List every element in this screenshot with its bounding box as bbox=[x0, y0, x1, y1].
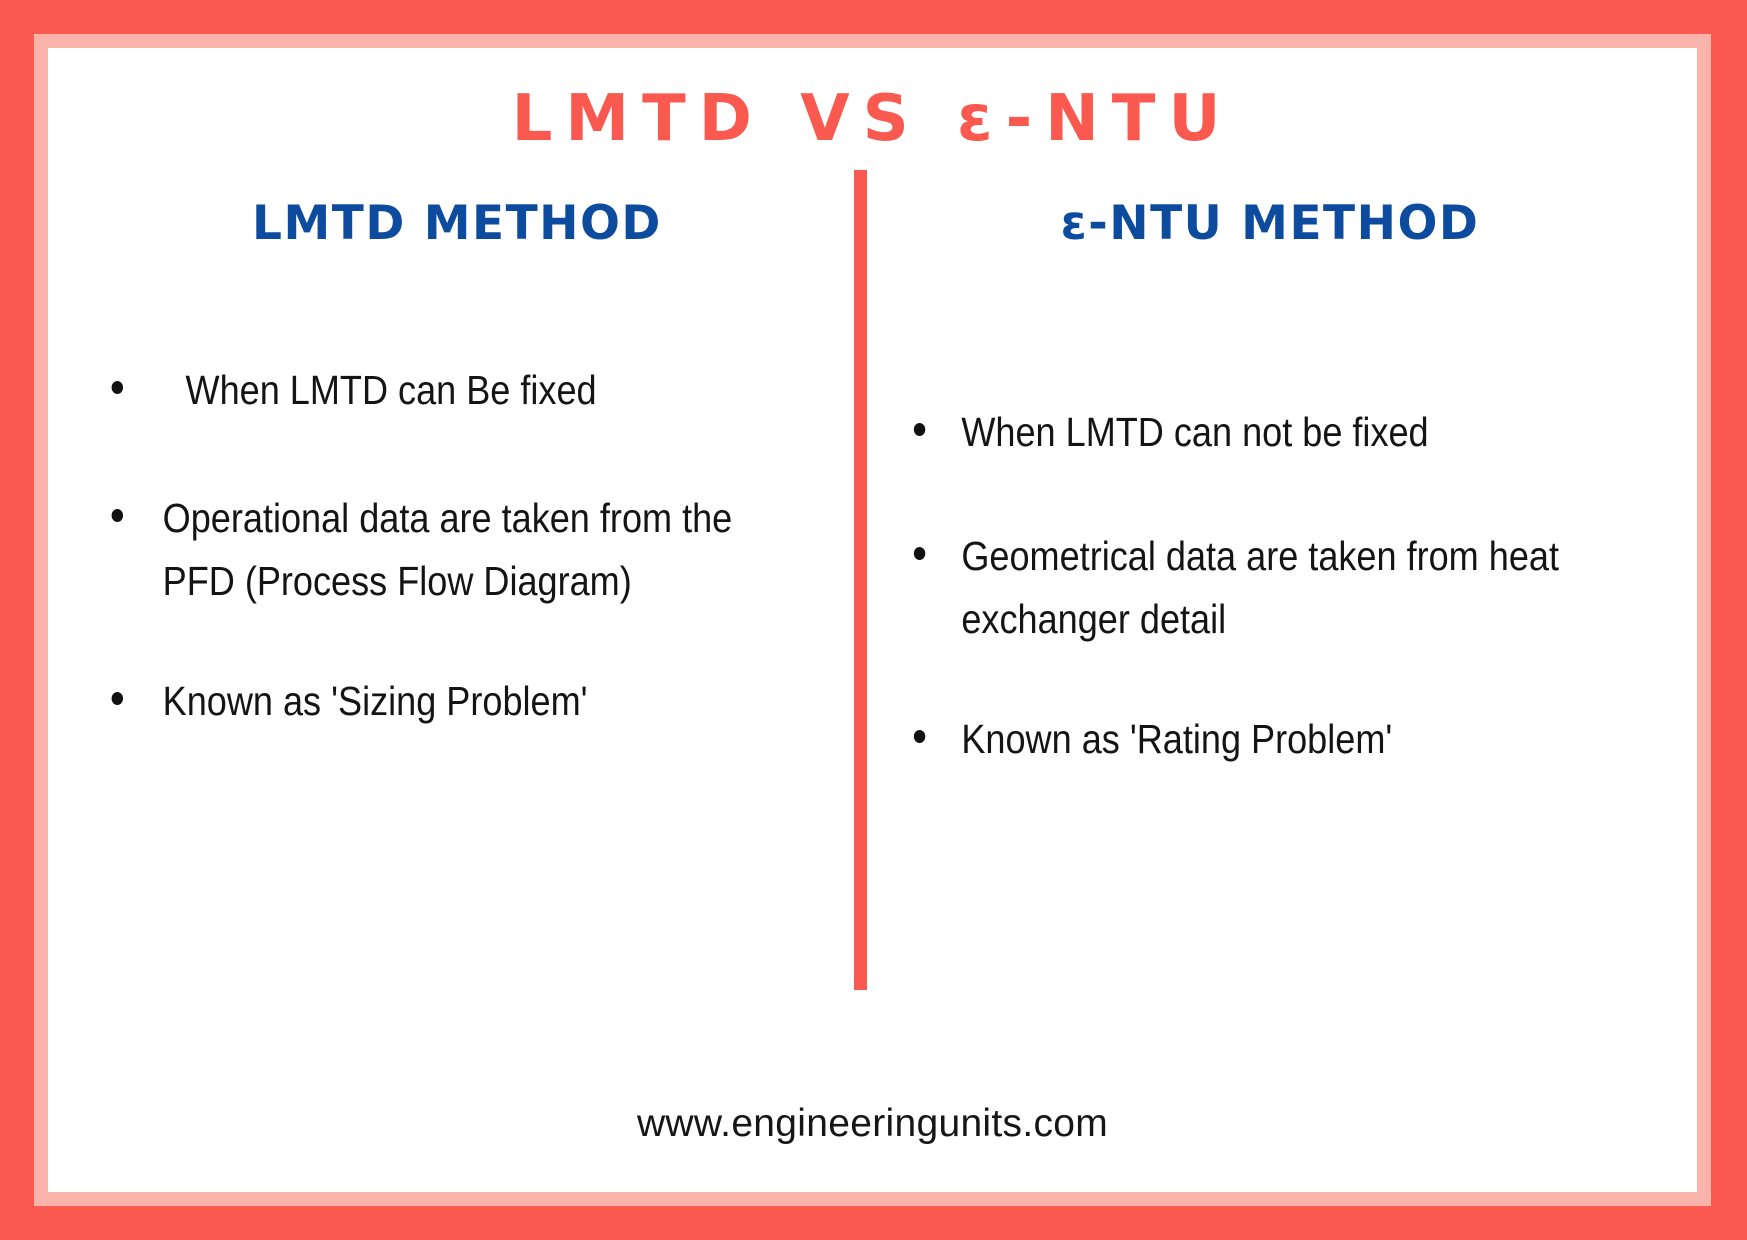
bullet-dot-icon bbox=[914, 547, 925, 560]
bullet-dot-icon bbox=[112, 692, 123, 705]
list-item-text: When LMTD can Be fixed bbox=[186, 359, 758, 423]
list-item: When LMTD can Be fixed bbox=[94, 359, 758, 423]
bullet-list-lmtd: When LMTD can Be fixed Operational data … bbox=[58, 359, 848, 733]
list-item: Known as 'Sizing Problem' bbox=[94, 670, 758, 734]
bullet-dot-icon bbox=[914, 423, 925, 436]
comparison-columns: LMTD METHOD When LMTD can Be fixed Opera… bbox=[48, 196, 1697, 996]
list-item-text: Known as 'Rating Problem' bbox=[961, 708, 1570, 772]
bullet-list-entu: When LMTD can not be fixed Geometrical d… bbox=[872, 401, 1662, 771]
column-entu: ε-NTU METHOD When LMTD can not be fixed … bbox=[872, 196, 1662, 771]
bullet-dot-icon bbox=[112, 509, 123, 522]
list-item-text: Known as 'Sizing Problem' bbox=[163, 670, 758, 734]
list-item-text: When LMTD can not be fixed bbox=[961, 401, 1570, 465]
page-title: LMTD VS ε-NTU bbox=[48, 86, 1697, 153]
column-heading-entu: ε-NTU METHOD bbox=[872, 196, 1662, 251]
column-lmtd: LMTD METHOD When LMTD can Be fixed Opera… bbox=[58, 196, 848, 733]
list-item: Operational data are taken from the PFD … bbox=[94, 487, 758, 614]
list-item: Known as 'Rating Problem' bbox=[898, 708, 1570, 772]
list-item: When LMTD can not be fixed bbox=[898, 401, 1570, 465]
bullet-dot-icon bbox=[914, 730, 925, 743]
footer-website-url: www.engineeringunits.com bbox=[48, 1102, 1697, 1146]
infographic-frame: LMTD VS ε-NTU LMTD METHOD When LMTD can … bbox=[0, 0, 1747, 1240]
column-heading-lmtd: LMTD METHOD bbox=[58, 196, 848, 251]
list-item-text: Operational data are taken from the PFD … bbox=[163, 487, 758, 614]
list-item-text: Geometrical data are taken from heat exc… bbox=[961, 525, 1570, 652]
list-item: Geometrical data are taken from heat exc… bbox=[898, 525, 1570, 652]
bullet-dot-icon bbox=[112, 381, 123, 394]
content-card: LMTD VS ε-NTU LMTD METHOD When LMTD can … bbox=[48, 48, 1697, 1192]
